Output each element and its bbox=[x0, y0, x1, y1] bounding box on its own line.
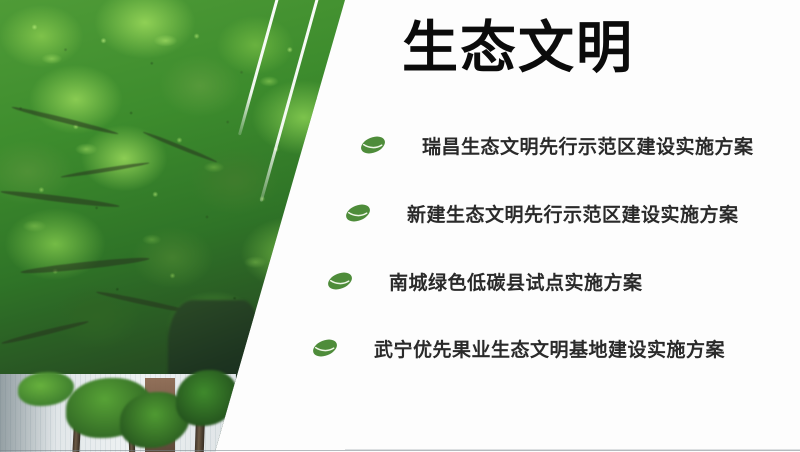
document-list: 瑞昌生态文明先行示范区建设实施方案 新建生态文明先行示范区建设实施方案 bbox=[0, 0, 800, 452]
leaf-icon bbox=[358, 130, 388, 160]
list-item[interactable]: 武宁优先果业生态文明基地建设实施方案 bbox=[310, 333, 725, 363]
list-item[interactable]: 瑞昌生态文明先行示范区建设实施方案 bbox=[358, 130, 754, 160]
list-item-label: 南城绿色低碳县试点实施方案 bbox=[389, 268, 643, 295]
list-item[interactable]: 新建生态文明先行示范区建设实施方案 bbox=[343, 198, 739, 228]
leaf-icon bbox=[310, 333, 340, 363]
leaf-icon bbox=[343, 198, 373, 228]
leaf-icon bbox=[325, 266, 355, 296]
bottom-divider-soft bbox=[345, 449, 800, 450]
bottom-divider bbox=[0, 450, 800, 451]
slide-root: 生态文明 瑞昌生态文明先行示范区建设实施方案 bbox=[0, 0, 800, 452]
list-item-label: 瑞昌生态文明先行示范区建设实施方案 bbox=[422, 132, 754, 159]
list-item[interactable]: 南城绿色低碳县试点实施方案 bbox=[325, 266, 643, 296]
list-item-label: 新建生态文明先行示范区建设实施方案 bbox=[407, 200, 739, 227]
list-item-label: 武宁优先果业生态文明基地建设实施方案 bbox=[374, 335, 725, 362]
